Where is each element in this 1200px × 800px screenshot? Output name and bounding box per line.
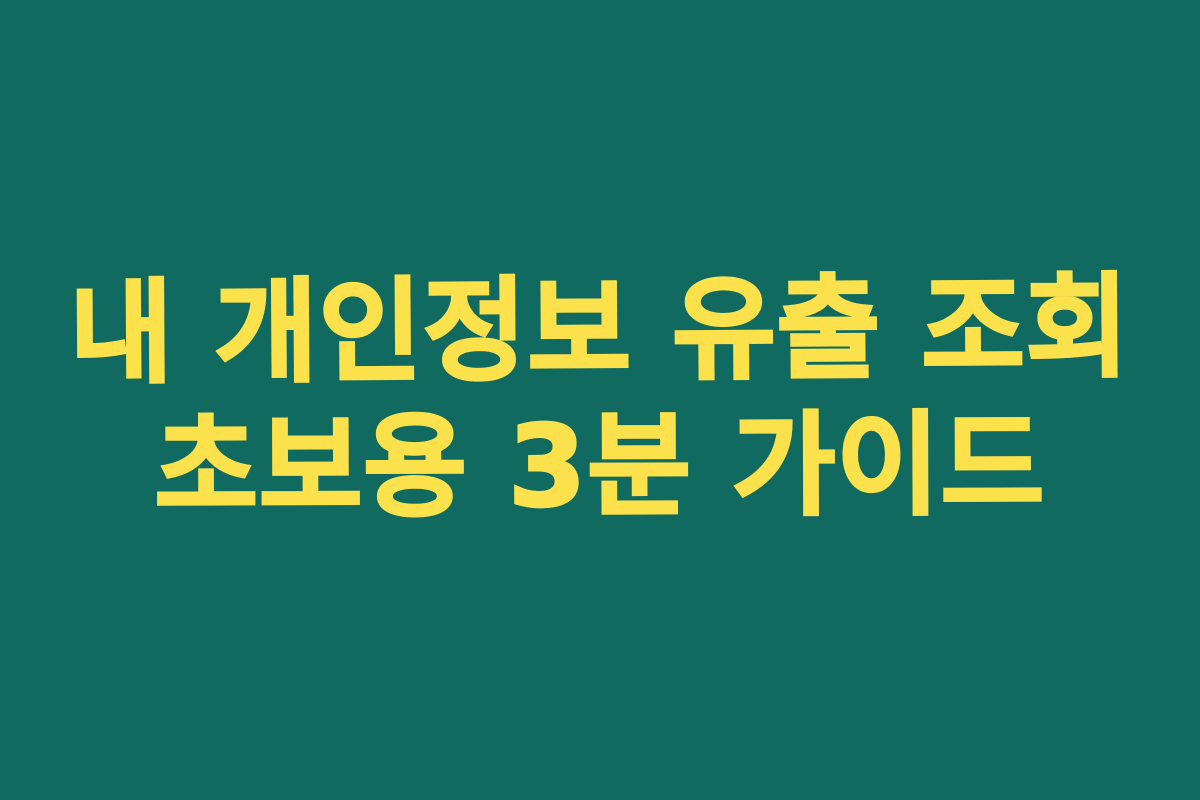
title-card: 내 개인정보 유출 조회 초보용 3분 가이드	[0, 0, 1200, 800]
headline-line-2: 초보용 3분 가이드	[40, 397, 1160, 537]
headline-block: 내 개인정보 유출 조회 초보용 3분 가이드	[0, 263, 1200, 535]
headline-line-1: 내 개인정보 유출 조회	[40, 260, 1161, 403]
